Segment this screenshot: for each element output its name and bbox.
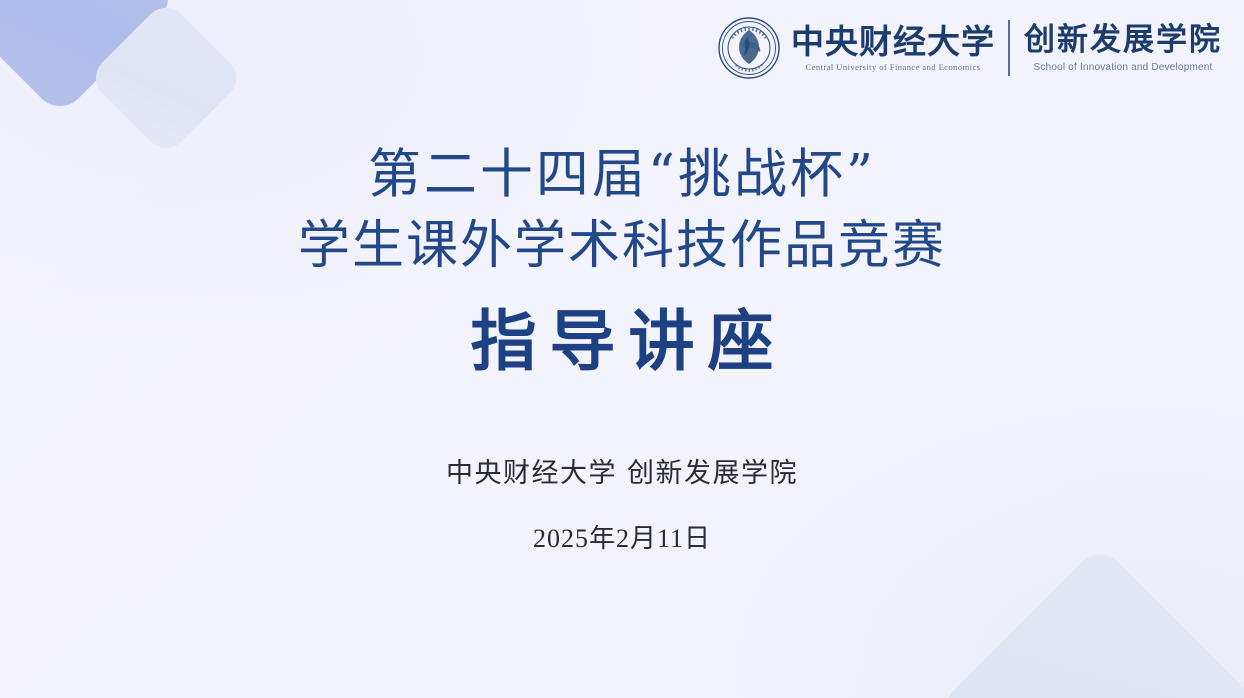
slide-title: 第二十四届“挑战杯” 学生课外学术科技作品竞赛 指导讲座 — [298, 138, 946, 385]
date-line: 2025年2月11日 — [446, 518, 798, 555]
title-line-2: 学生课外学术科技作品竞赛 — [298, 211, 946, 283]
title-emphasis: 指导讲座 — [298, 299, 946, 385]
slide-content: 第二十四届“挑战杯” 学生课外学术科技作品竞赛 指导讲座 中央财经大学 创新发展… — [0, 0, 1244, 698]
title-line-1: 第二十四届“挑战杯” — [298, 138, 946, 211]
slide-footer: 中央财经大学 创新发展学院 2025年2月11日 — [446, 451, 798, 555]
presentation-slide: 中央财经大学 Central University of Finance and… — [0, 0, 1244, 698]
organizer-line: 中央财经大学 创新发展学院 — [446, 451, 798, 490]
